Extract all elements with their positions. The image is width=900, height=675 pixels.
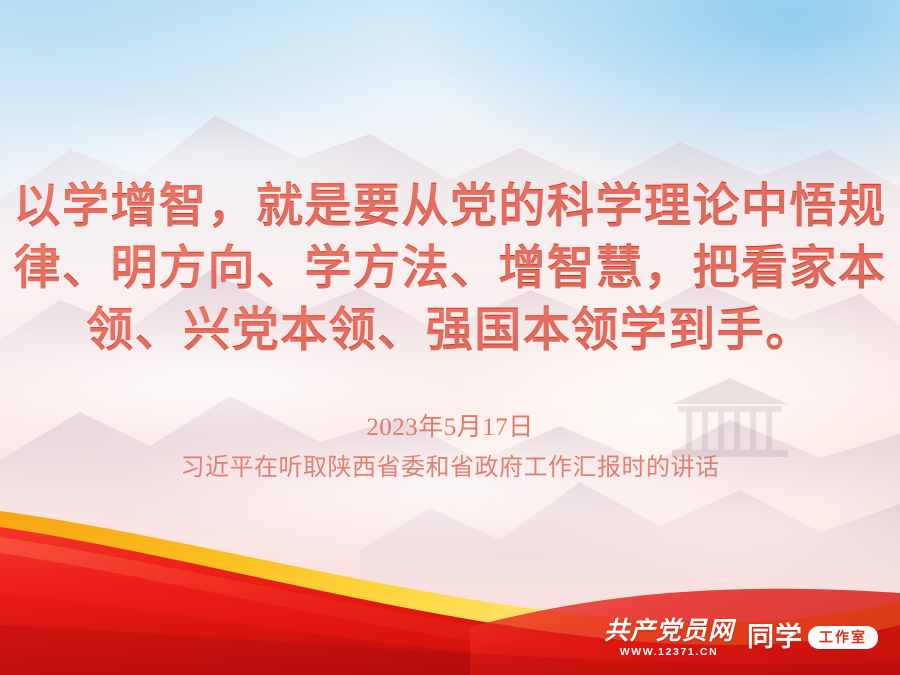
studio-name: 同学 (747, 624, 803, 651)
site-name: 共产党员网 (604, 619, 734, 644)
quote-line-3: 领、兴党本领、强国本领学到手。 (0, 299, 900, 361)
studio-label-badge: 工作室 (808, 626, 878, 649)
attribution-date: 2023年5月17日 (0, 410, 900, 446)
quote-line-1: 以学增智，就是要从党的科学理论中悟规 (0, 175, 900, 237)
branding-lockup: 共产党员网 WWW.12371.CN 同学 工作室 (604, 619, 878, 658)
site-url: WWW.12371.CN (620, 647, 719, 658)
quote-text-block: 以学增智，就是要从党的科学理论中悟规 律、明方向、学方法、增智慧，把看家本 领、… (0, 175, 900, 361)
attribution-block: 2023年5月17日 习近平在听取陕西省委和省政府工作汇报时的讲话 (0, 410, 900, 486)
attribution-source: 习近平在听取陕西省委和省政府工作汇报时的讲话 (0, 450, 900, 486)
quote-poster: 以学增智，就是要从党的科学理论中悟规 律、明方向、学方法、增智慧，把看家本 领、… (0, 0, 900, 675)
studio-logo: 同学 工作室 (747, 624, 878, 651)
site-logo: 共产党员网 WWW.12371.CN (604, 619, 734, 658)
quote-line-2: 律、明方向、学方法、增智慧，把看家本 (0, 237, 900, 299)
